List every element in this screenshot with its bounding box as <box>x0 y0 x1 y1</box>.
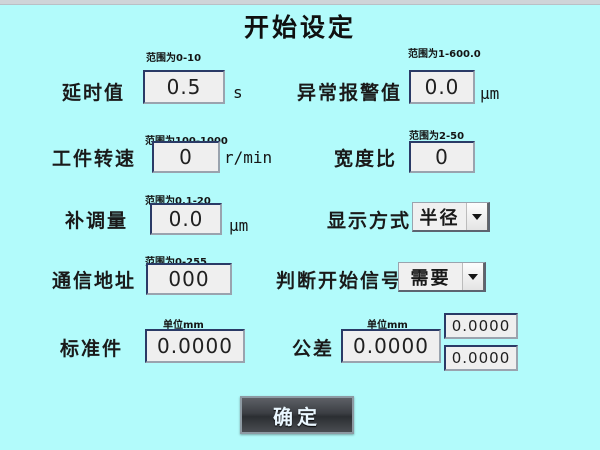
select-start-signal[interactable]: 需要 <box>398 262 486 292</box>
select-display-mode[interactable]: 半径 <box>412 202 490 232</box>
label-speed: 工件转速 <box>52 144 136 171</box>
label-delay: 延时值 <box>62 78 125 105</box>
hint-widthratio: 范围为2-50 <box>409 127 464 142</box>
window-top-strip <box>0 0 600 5</box>
settings-window: 开始设定 延时值 范围为0-10 0.5 s 异常报警值 范围为1-600.0 … <box>0 0 600 450</box>
input-standard[interactable]: 0.0000 <box>145 329 245 363</box>
input-alarm[interactable]: 0.0 <box>409 70 475 104</box>
hint-delay: 范围为0-10 <box>146 49 201 64</box>
input-delay[interactable]: 0.5 <box>143 70 225 104</box>
label-standard: 标准件 <box>60 334 123 361</box>
chevron-down-icon[interactable] <box>462 263 484 290</box>
select-display-mode-value: 半径 <box>413 204 466 230</box>
select-start-signal-value: 需要 <box>399 264 462 290</box>
chevron-down-icon[interactable] <box>466 203 488 230</box>
input-tolerance-lower[interactable]: 0.0000 <box>444 345 518 371</box>
unit-compensate: μm <box>229 216 248 235</box>
label-address: 通信地址 <box>52 266 136 293</box>
unit-speed: r/min <box>224 148 272 167</box>
label-start-signal: 判断开始信号 <box>276 266 402 293</box>
confirm-button[interactable]: 确定 <box>240 396 354 434</box>
input-tolerance[interactable]: 0.0000 <box>341 329 441 363</box>
input-tolerance-upper[interactable]: 0.0000 <box>444 313 518 339</box>
unit-delay: s <box>233 83 243 102</box>
input-speed[interactable]: 0 <box>152 141 220 173</box>
label-compensate: 补调量 <box>65 206 128 233</box>
label-widthratio: 宽度比 <box>334 144 397 171</box>
page-title: 开始设定 <box>0 8 600 44</box>
label-alarm: 异常报警值 <box>297 78 402 105</box>
input-compensate[interactable]: 0.0 <box>150 203 222 235</box>
input-widthratio[interactable]: 0 <box>409 141 475 173</box>
label-tolerance: 公差 <box>292 334 334 361</box>
hint-alarm: 范围为1-600.0 <box>408 45 481 60</box>
label-display-mode: 显示方式 <box>327 206 411 233</box>
unit-alarm: μm <box>480 84 499 103</box>
input-address[interactable]: 000 <box>146 263 232 295</box>
